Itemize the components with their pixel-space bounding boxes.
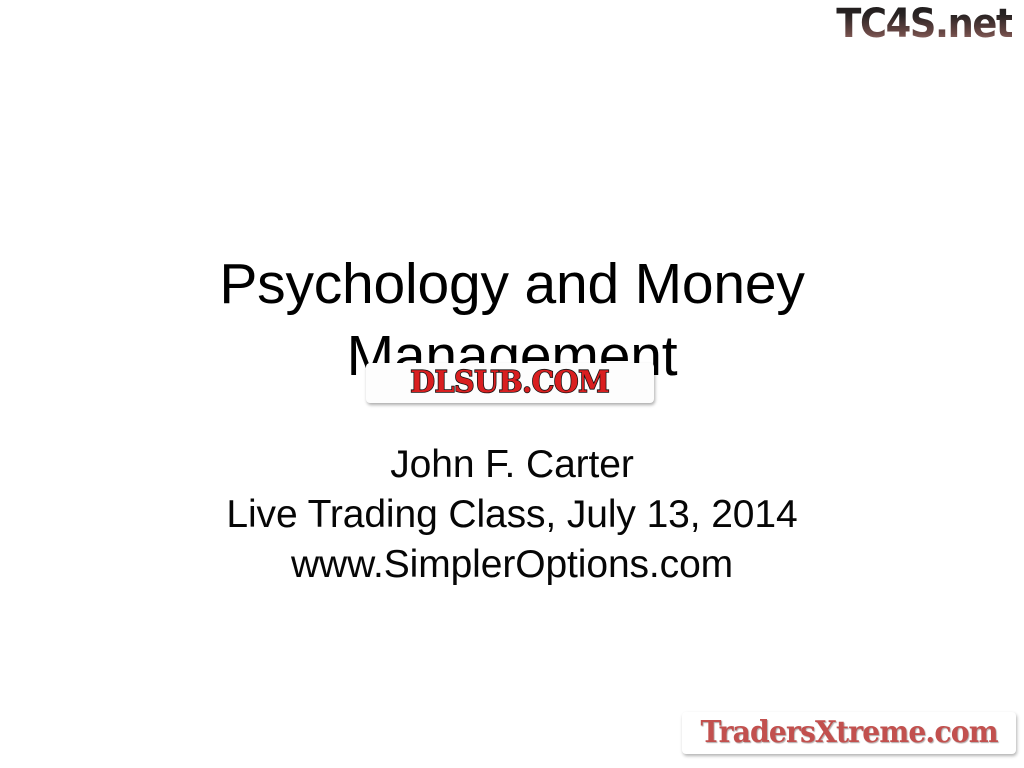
title-line-1: Psychology and Money (0, 248, 1024, 320)
dlsub-com-watermark-label: DLSUB.COM (411, 368, 610, 398)
tc4s-net-watermark: TC4S.net (836, 2, 1012, 46)
dlsub-com-watermark: DLSUB.COM (366, 363, 654, 403)
subtitle-line-website: www.SimplerOptions.com (0, 540, 1024, 590)
slide-subtitle: John F. Carter Live Trading Class, July … (0, 440, 1024, 590)
subtitle-line-presenter: John F. Carter (0, 440, 1024, 490)
tradersxtreme-com-watermark: TradersXtreme.com (682, 712, 1016, 754)
tradersxtreme-com-watermark-label: TradersXtreme.com (700, 717, 997, 749)
presentation-slide: TC4S.net Psychology and Money Management… (0, 0, 1024, 768)
subtitle-line-event: Live Trading Class, July 13, 2014 (0, 490, 1024, 540)
